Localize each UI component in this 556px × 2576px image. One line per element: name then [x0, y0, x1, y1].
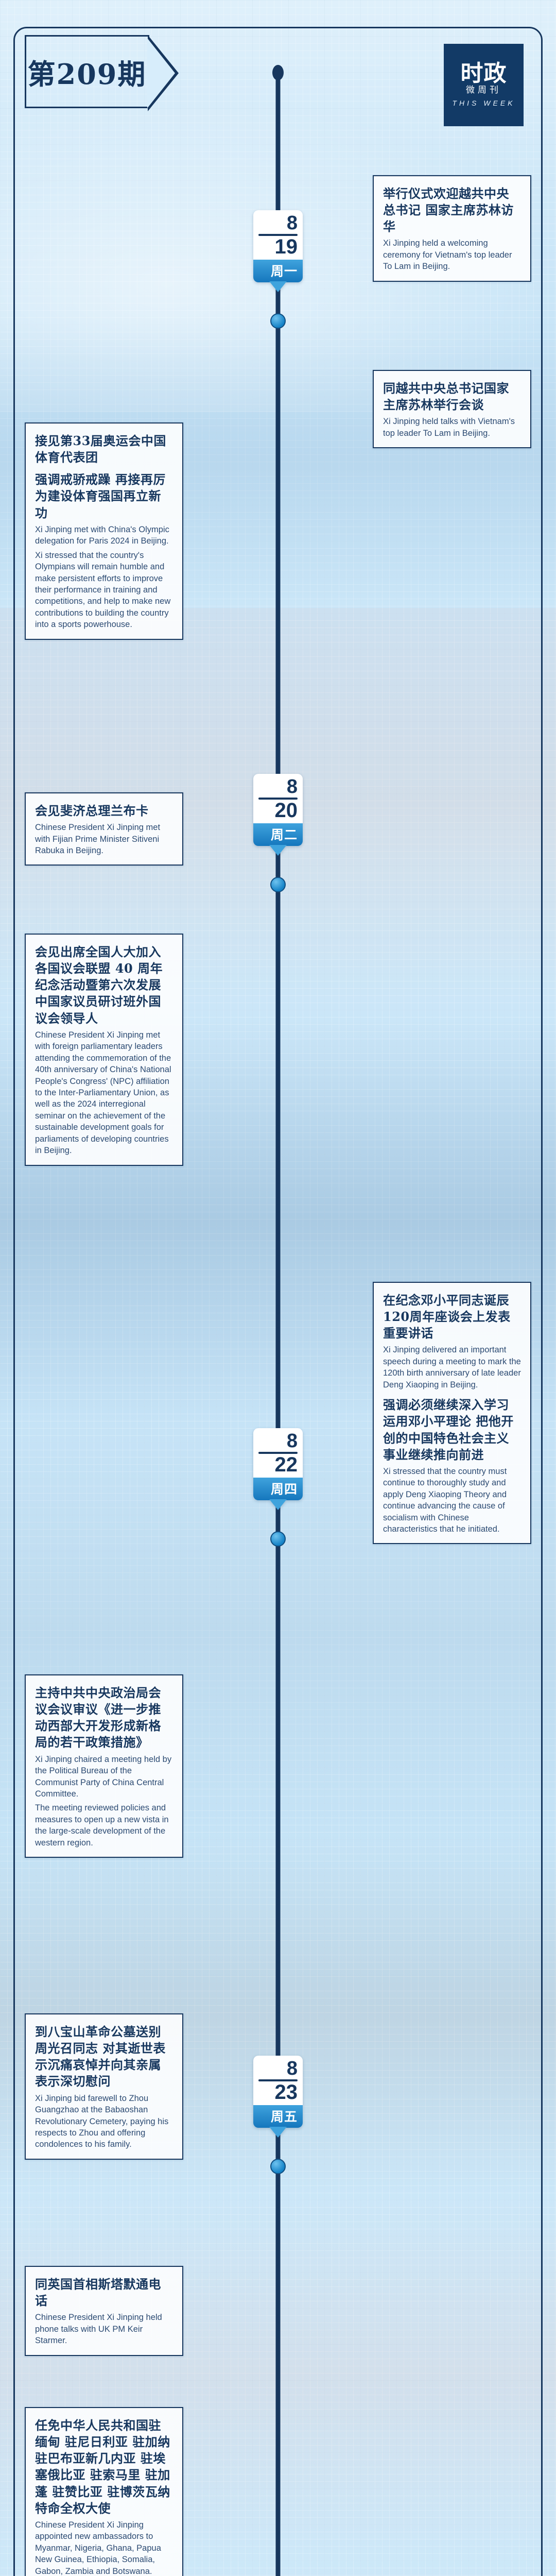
date-pointer-icon [269, 281, 287, 292]
card-body-en-2: The meeting reviewed policies and measur… [35, 1802, 173, 1849]
date-day: 22 [258, 1455, 298, 1475]
date-pointer-icon [269, 1499, 287, 1510]
date-pointer-icon [269, 2127, 287, 2138]
news-card-welcome-to-lam[interactable]: 举行仪式欢迎越共中央总书记 国家主席苏林访华 Xi Jinping held a… [373, 175, 531, 282]
date-badge-top: 8 23 [253, 2056, 303, 2105]
date-day: 20 [258, 801, 298, 820]
news-card-talks-to-lam[interactable]: 同越共中央总书记国家主席苏林举行会谈 Xi Jinping held talks… [373, 370, 531, 448]
date-badge-top: 8 19 [253, 210, 303, 260]
card-subtitle-cn: 强调必须继续深入学习运用邓小平理论 把他开创的中国特色社会主义事业继续推向前进 [383, 1397, 521, 1463]
card-body-en: Xi Jinping held a welcoming ceremony for… [383, 238, 521, 272]
issue-number-badge: 第209期 [25, 35, 149, 108]
timeline-dot-0822 [270, 1531, 286, 1547]
news-card-politburo-meeting[interactable]: 主持中共中央政治局会议会议审议《进一步推动西部大开发形成新格局的若干政策措施》 … [25, 1674, 183, 1858]
date-weekday: 周四 [253, 1478, 303, 1500]
card-body-en: Xi Jinping delivered an important speech… [383, 1344, 521, 1391]
card-title-cn: 接见第33届奥运会中国体育代表团 [35, 433, 173, 466]
card-title-cn: 会见出席全国人大加入各国议会联盟 40 周年纪念活动暨第六次发展中国家议员研讨班… [35, 944, 173, 1027]
timeline-dot-0819 [270, 313, 286, 329]
news-card-fiji-pm[interactable]: 会见斐济总理兰布卡 Chinese President Xi Jinping m… [25, 792, 183, 866]
date-day: 19 [258, 237, 298, 257]
timeline-spine [276, 66, 281, 2576]
logo-chinese-subtitle: 微周刊 [461, 86, 507, 94]
card-title-cn: 同越共中央总书记国家主席苏林举行会谈 [383, 380, 521, 413]
news-card-deng-xiaoping-speech[interactable]: 在纪念邓小平同志诞辰120周年座谈会上发表重要讲话 Xi Jinping del… [373, 1282, 531, 1544]
date-badge-top: 8 20 [253, 774, 303, 823]
date-day: 23 [258, 2082, 298, 2102]
date-badge-top: 8 22 [253, 1428, 303, 1478]
news-card-olympic-delegation[interactable]: 接见第33届奥运会中国体育代表团 强调戒骄戒躁 再接再厉为建设体育强国再立新功 … [25, 422, 183, 640]
date-month: 8 [258, 778, 298, 796]
logo-chinese-main: 时政 [461, 60, 507, 87]
card-body-en-2: Xi stressed that the country's Olympians… [35, 550, 173, 631]
news-card-uk-pm-call[interactable]: 同英国首相斯塔默通电话 Chinese President Xi Jinping… [25, 2266, 183, 2356]
card-title-cn: 会见斐济总理兰布卡 [35, 803, 173, 819]
news-card-ipu-anniversary[interactable]: 会见出席全国人大加入各国议会联盟 40 周年纪念活动暨第六次发展中国家议员研讨班… [25, 934, 183, 1166]
date-badge-0819[interactable]: 8 19 周一 [253, 210, 303, 282]
card-title-cn: 在纪念邓小平同志诞辰120周年座谈会上发表重要讲话 [383, 1292, 521, 1342]
date-badge-0820[interactable]: 8 20 周二 [253, 774, 303, 846]
date-badge-0823[interactable]: 8 23 周五 [253, 2056, 303, 2128]
date-month: 8 [258, 1432, 298, 1450]
timeline-dot-0820 [270, 877, 286, 892]
card-body-en: Chinese President Xi Jinping met with Fi… [35, 822, 173, 856]
date-badge-0822[interactable]: 8 22 周四 [253, 1428, 303, 1500]
news-card-zhou-guangzhao-farewell[interactable]: 到八宝山革命公墓送别周光召同志 对其逝世表示沉痛哀悼并向其亲属表示深切慰问 Xi… [25, 2013, 183, 2160]
date-weekday: 周一 [253, 260, 303, 282]
card-body-en: Xi Jinping met with China's Olympic dele… [35, 524, 173, 547]
card-body-en-2: Xi stressed that the country must contin… [383, 1466, 521, 1535]
date-month: 8 [258, 214, 298, 232]
card-title-cn: 任免中华人民共和国驻缅甸 驻尼日利亚 驻加纳 驻巴布亚新几内亚 驻埃塞俄比亚 驻… [35, 2417, 173, 2517]
card-body-en: Xi Jinping chaired a meeting held by the… [35, 1754, 173, 1800]
news-card-ambassadors[interactable]: 任免中华人民共和国驻缅甸 驻尼日利亚 驻加纳 驻巴布亚新几内亚 驻埃塞俄比亚 驻… [25, 2407, 183, 2576]
card-body-en: Chinese President Xi Jinping appointed n… [35, 2519, 173, 2576]
publication-logo: 时政 微周刊 THIS WEEK [444, 44, 524, 126]
issue-number-label: 第209期 [28, 52, 147, 92]
header: 第209期 时政 微周刊 THIS WEEK [0, 0, 556, 155]
card-body-en: Chinese President Xi Jinping met with fo… [35, 1029, 173, 1157]
date-weekday: 周五 [253, 2105, 303, 2128]
timeline-dot-0823 [270, 2159, 286, 2174]
logo-english-title: THIS WEEK [452, 99, 515, 107]
card-subtitle-cn: 强调戒骄戒躁 再接再厉为建设体育强国再立新功 [35, 471, 173, 521]
card-body-en: Xi Jinping bid farewell to Zhou Guangzha… [35, 2093, 173, 2150]
date-pointer-icon [269, 845, 287, 856]
card-title-cn: 举行仪式欢迎越共中央总书记 国家主席苏林访华 [383, 185, 521, 235]
card-title-cn: 主持中共中央政治局会议会议审议《进一步推动西部大开发形成新格局的若干政策措施》 [35, 1685, 173, 1751]
card-body-en: Chinese President Xi Jinping held phone … [35, 2312, 173, 2346]
date-month: 8 [258, 2060, 298, 2078]
date-weekday: 周二 [253, 823, 303, 846]
card-title-cn: 同英国首相斯塔默通电话 [35, 2276, 173, 2309]
card-title-cn: 到八宝山革命公墓送别周光召同志 对其逝世表示沉痛哀悼并向其亲属表示深切慰问 [35, 2024, 173, 2090]
logo-chinese-title: 时政 微周刊 [461, 63, 507, 94]
card-body-en: Xi Jinping held talks with Vietnam's top… [383, 416, 521, 439]
